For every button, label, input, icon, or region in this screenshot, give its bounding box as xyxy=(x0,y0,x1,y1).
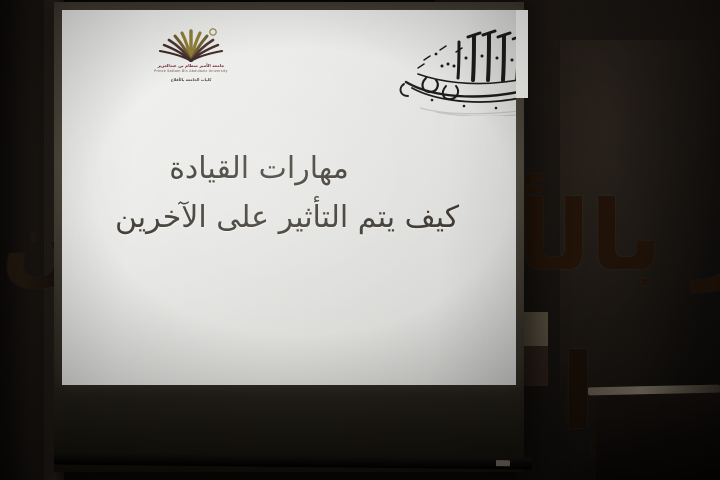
university-logo-mark xyxy=(156,28,226,62)
lectern xyxy=(596,392,720,480)
university-logo-english-name: Prince Sattam Bin Abdulaziz University xyxy=(148,69,234,74)
auditorium-photo: ـزيز بالأ ـرا ن xyxy=(0,0,720,480)
slide-title-line-2: كيف يتم التأثير على الآخرين xyxy=(90,198,488,237)
university-logo: جامعة الأمير سطام بن عبدالعزيز Prince Sa… xyxy=(148,28,234,92)
screen-bar-label xyxy=(496,460,510,466)
basmala-calligraphy-art xyxy=(396,24,516,116)
slide-title-line-1: مهارات القيادة xyxy=(90,150,488,188)
university-logo-subtitle: كليات الجامعة بالأفلاج xyxy=(148,77,234,82)
slide-title-block: مهارات القيادة كيف يتم التأثير على الآخر… xyxy=(90,150,488,237)
presentation-slide: جامعة الأمير سطام بن عبدالعزيز Prince Sa… xyxy=(62,10,516,385)
basmala-calligraphy xyxy=(396,24,516,116)
